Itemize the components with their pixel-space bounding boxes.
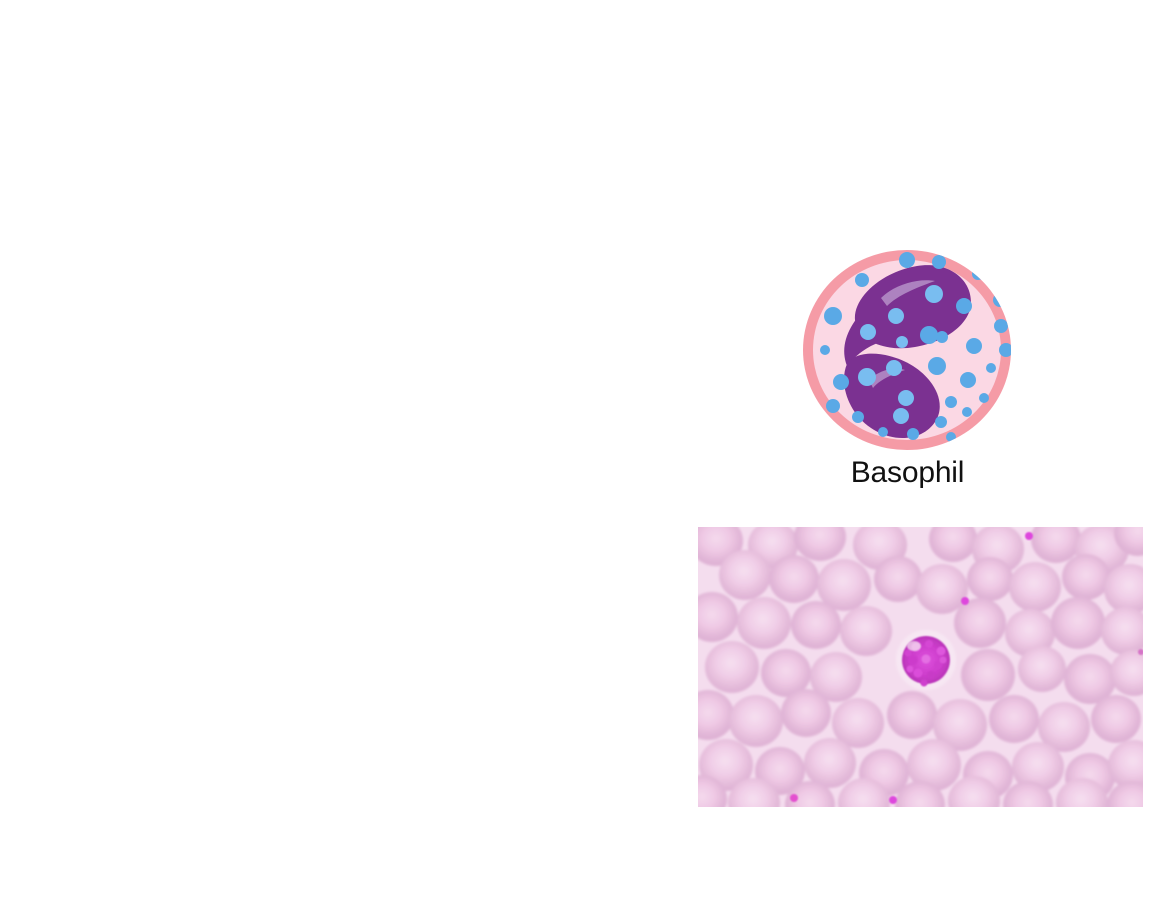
basophil-cell-diagram <box>795 246 1020 458</box>
micrograph-image <box>698 527 1143 807</box>
illustration-caption: Basophil <box>795 454 1020 492</box>
basophil-illustration-panel: Basophil <box>795 246 1020 496</box>
stain-haze <box>698 527 1143 807</box>
blood-smear-micrograph <box>698 527 1143 807</box>
